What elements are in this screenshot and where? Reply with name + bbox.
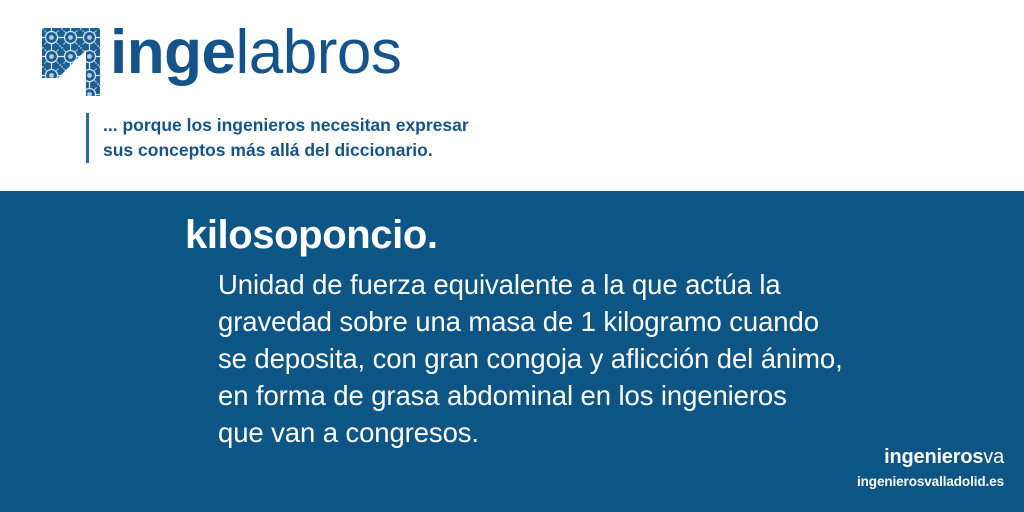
tagline-line-1: ... porque los ingenieros necesitan expr… [103,115,469,135]
definition-line: Unidad de fuerza equivalente a la que ac… [218,266,978,303]
wordmark-light: labros [235,18,401,87]
footer-url: ingenierosvalladolid.es [857,475,1004,490]
footer-brand: ingenierosva ingenierosvalladolid.es [857,446,1004,490]
footer-org-bold: ingenieros [884,446,983,468]
tagline: ... porque los ingenieros necesitan expr… [86,113,469,163]
definition-line: gravedad sobre una masa de 1 kilogramo c… [218,303,978,340]
patterned-arrow-mark-icon [42,28,100,96]
wordmark: ingelabros [110,22,401,84]
brand-lockup: ingelabros [42,28,401,96]
footer-org-light: va [983,446,1004,468]
tagline-line-2: sus conceptos más allá del diccionario. [103,140,433,160]
entry-term: kilosoponcio. [185,215,438,255]
entry-definition: Unidad de fuerza equivalente a la que ac… [218,266,978,451]
tagline-divider-rule [86,113,89,163]
wordmark-bold: inge [110,18,235,87]
header-band: ingelabros ... porque los ingenieros nec… [0,0,1024,191]
definition-panel: kilosoponcio. Unidad de fuerza equivalen… [0,191,1024,512]
ingelabros-definition-card: ingelabros ... porque los ingenieros nec… [0,0,1024,512]
tagline-text: ... porque los ingenieros necesitan expr… [103,113,469,163]
definition-line: en forma de grasa abdominal en los ingen… [218,377,978,414]
footer-org-name: ingenierosva [857,446,1004,468]
definition-line: se deposita, con gran congoja y aflicció… [218,340,978,377]
